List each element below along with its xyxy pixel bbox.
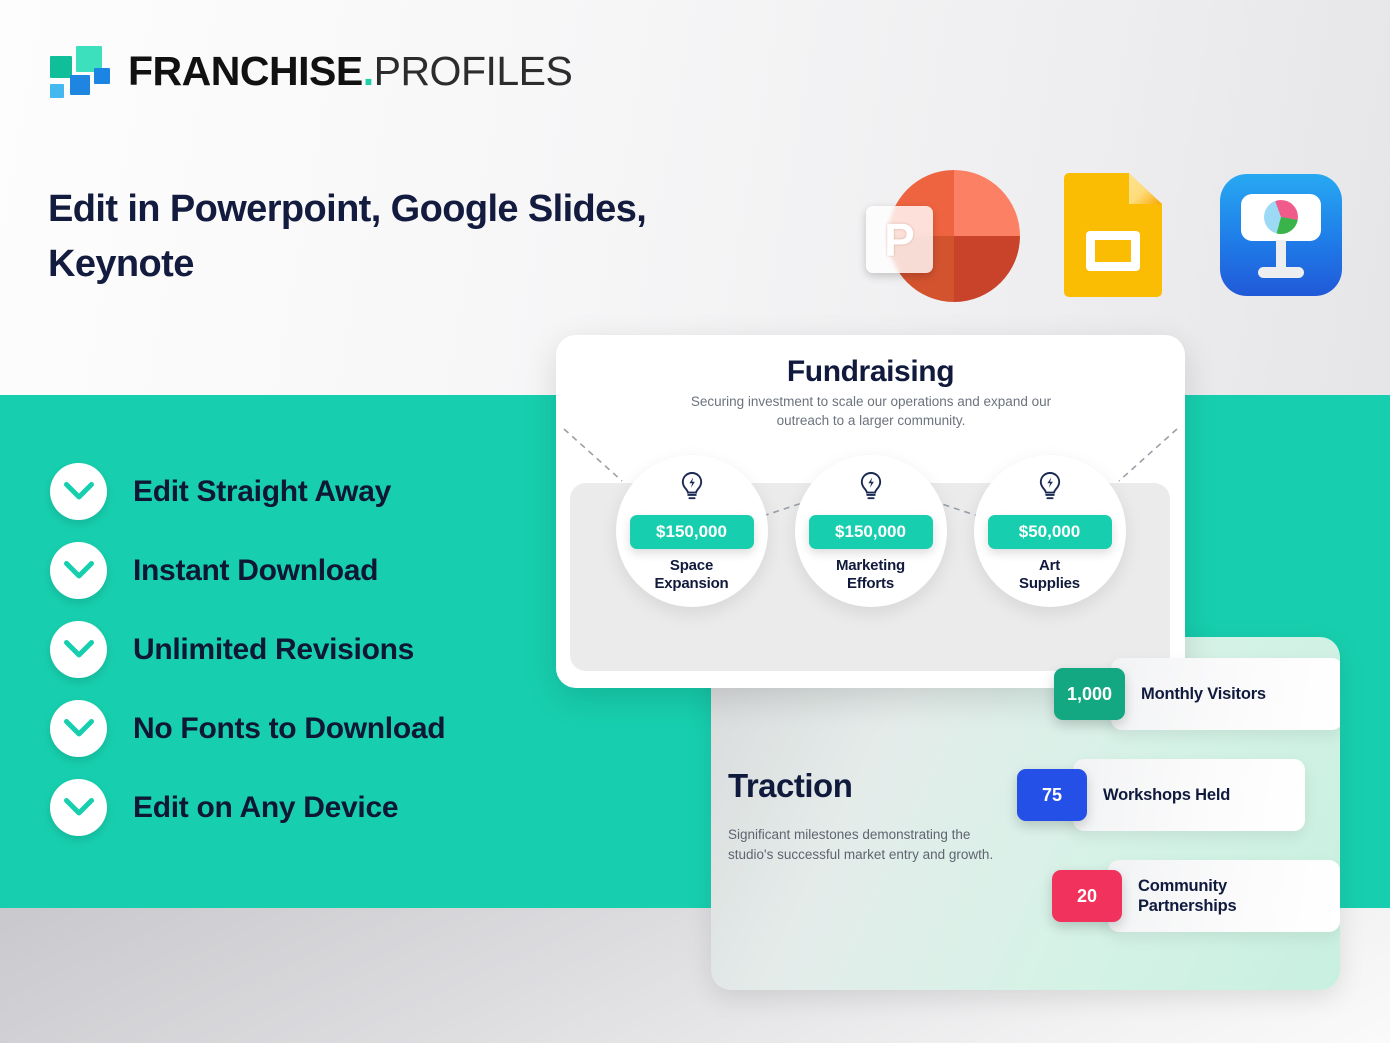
status-badge: 1,000 [1054, 668, 1125, 720]
traction-stat-row: 1,000 Monthly Visitors [1054, 658, 1340, 730]
poster-canvas: FRANCHISE.PROFILES Edit in Powerpoint, G… [0, 0, 1390, 1043]
keynote-icon [1220, 174, 1342, 296]
logo-square-5 [94, 68, 110, 84]
fundraising-node-label: MarketingEfforts [836, 557, 905, 593]
fundraising-node-marketing-efforts[interactable]: $150,000 MarketingEfforts [795, 455, 947, 607]
fundraising-node-row: $150,000 SpaceExpansion $150,000 Marketi… [556, 455, 1185, 625]
keynote-stand-stem [1276, 240, 1286, 270]
feature-label: No Fonts to Download [133, 712, 445, 746]
keynote-pie-chart-icon [1264, 200, 1298, 234]
traction-stat-plate: CommunityPartnerships [1108, 860, 1340, 932]
fundraising-node-value: $150,000 [809, 515, 933, 549]
traction-stat-plate: Workshops Held [1073, 759, 1305, 831]
node-label-line2: Supplies [1019, 575, 1080, 592]
feature-item-unlimited-revisions[interactable]: Unlimited Revisions [50, 621, 445, 678]
fundraising-node-art-supplies[interactable]: $50,000 ArtSupplies [974, 455, 1126, 607]
chevron-down-icon [50, 542, 107, 599]
node-label-line1: Marketing [836, 557, 905, 574]
feature-item-no-fonts-to-download[interactable]: No Fonts to Download [50, 700, 445, 757]
chevron-down-icon [50, 621, 107, 678]
google-slides-icon [1064, 173, 1162, 297]
traction-stat-row: 75 Workshops Held [1017, 759, 1305, 831]
traction-stat-label-line2: Partnerships [1138, 897, 1236, 915]
fundraising-title: Fundraising [556, 355, 1185, 389]
logo-squares-icon [48, 44, 110, 98]
feature-label: Instant Download [133, 554, 378, 588]
fundraising-node-label: SpaceExpansion [654, 557, 728, 593]
traction-subtitle: Significant milestones demonstrating the… [728, 825, 996, 864]
app-icon-row: P [866, 170, 1342, 300]
logo-square-4 [70, 75, 90, 95]
node-label-line1: Art [1039, 557, 1060, 574]
traction-slide-card[interactable]: Traction Significant milestones demonstr… [711, 637, 1340, 990]
brand-logo[interactable]: FRANCHISE.PROFILES [48, 44, 572, 98]
node-label-line1: Space [670, 557, 713, 574]
fundraising-slide-card[interactable]: Fundraising Securing investment to scale… [556, 335, 1185, 688]
traction-stat-label: CommunityPartnerships [1138, 876, 1236, 916]
feature-item-edit-on-any-device[interactable]: Edit on Any Device [50, 779, 445, 836]
logo-wordmark: FRANCHISE.PROFILES [128, 51, 572, 92]
chevron-down-icon [50, 700, 107, 757]
feature-item-edit-straight-away[interactable]: Edit Straight Away [50, 463, 445, 520]
lightbulb-bolt-icon [1037, 471, 1063, 508]
powerpoint-icon: P [866, 170, 1006, 300]
logo-dot: . [363, 48, 374, 94]
node-label-line2: Efforts [847, 575, 894, 592]
powerpoint-letter: P [884, 217, 915, 263]
fundraising-node-space-expansion[interactable]: $150,000 SpaceExpansion [616, 455, 768, 607]
feature-label: Edit Straight Away [133, 475, 391, 509]
feature-label: Unlimited Revisions [133, 633, 414, 667]
status-badge: 20 [1052, 870, 1122, 922]
chevron-down-icon [50, 463, 107, 520]
status-badge: 75 [1017, 769, 1087, 821]
fundraising-node-value: $150,000 [630, 515, 754, 549]
slides-screen-glyph [1086, 231, 1140, 271]
fundraising-node-value: $50,000 [988, 515, 1112, 549]
page-headline: Edit in Powerpoint, Google Slides, Keyno… [48, 182, 748, 292]
traction-stat-row: 20 CommunityPartnerships [1052, 860, 1340, 932]
traction-stat-label: Workshops Held [1103, 785, 1230, 805]
feature-list: Edit Straight Away Instant Download Unli… [50, 463, 445, 836]
traction-title: Traction [728, 767, 852, 805]
lightbulb-bolt-icon [858, 471, 884, 508]
traction-stat-plate: Monthly Visitors [1111, 658, 1340, 730]
feature-item-instant-download[interactable]: Instant Download [50, 542, 445, 599]
chevron-down-icon [50, 779, 107, 836]
lightbulb-bolt-icon [679, 471, 705, 508]
logo-square-3 [50, 84, 64, 98]
node-label-line2: Expansion [654, 575, 728, 592]
slides-corner-fold [1129, 173, 1162, 204]
fundraising-node-label: ArtSupplies [1019, 557, 1080, 593]
fundraising-subtitle: Securing investment to scale our operati… [682, 393, 1060, 431]
traction-stat-label: Monthly Visitors [1141, 684, 1266, 704]
traction-stat-label-line1: Community [1138, 877, 1227, 895]
logo-word-bold: FRANCHISE [128, 48, 363, 94]
powerpoint-tile: P [866, 206, 933, 273]
keynote-stand-base [1258, 267, 1304, 278]
feature-label: Edit on Any Device [133, 791, 398, 825]
logo-word-thin: PROFILES [374, 48, 573, 94]
logo-square-1 [50, 56, 72, 78]
